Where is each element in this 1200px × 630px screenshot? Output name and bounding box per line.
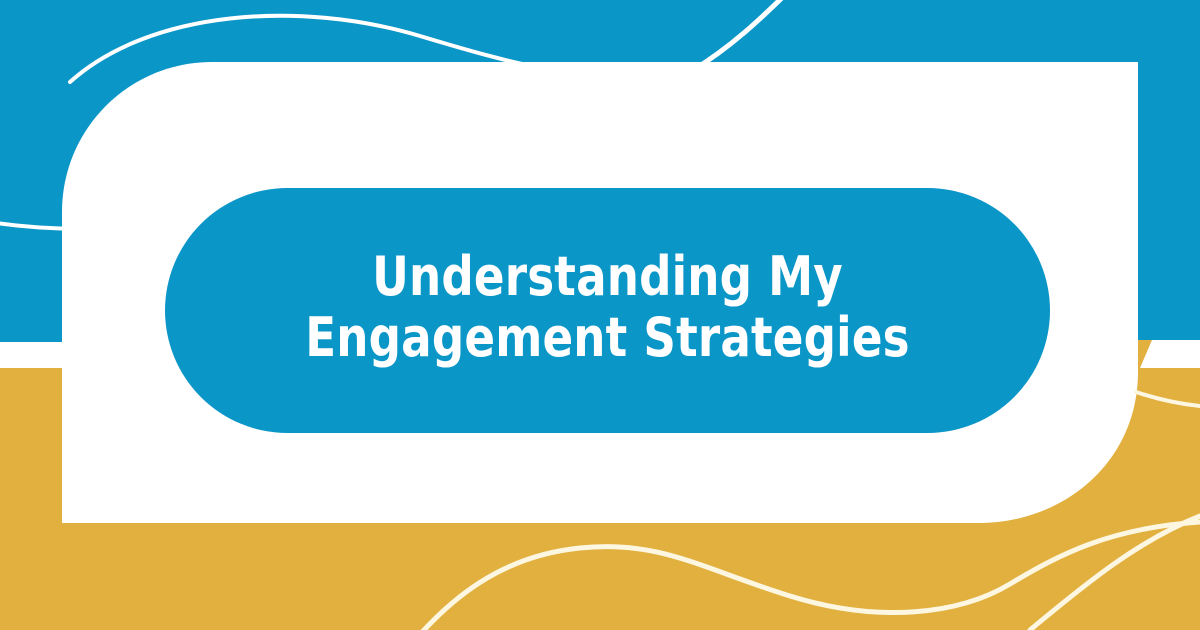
page-title: Understanding My Engagement Strategies: [252, 247, 963, 368]
banner-canvas: Understanding My Engagement Strategies: [0, 0, 1200, 630]
title-pill: Understanding My Engagement Strategies: [165, 188, 1050, 433]
